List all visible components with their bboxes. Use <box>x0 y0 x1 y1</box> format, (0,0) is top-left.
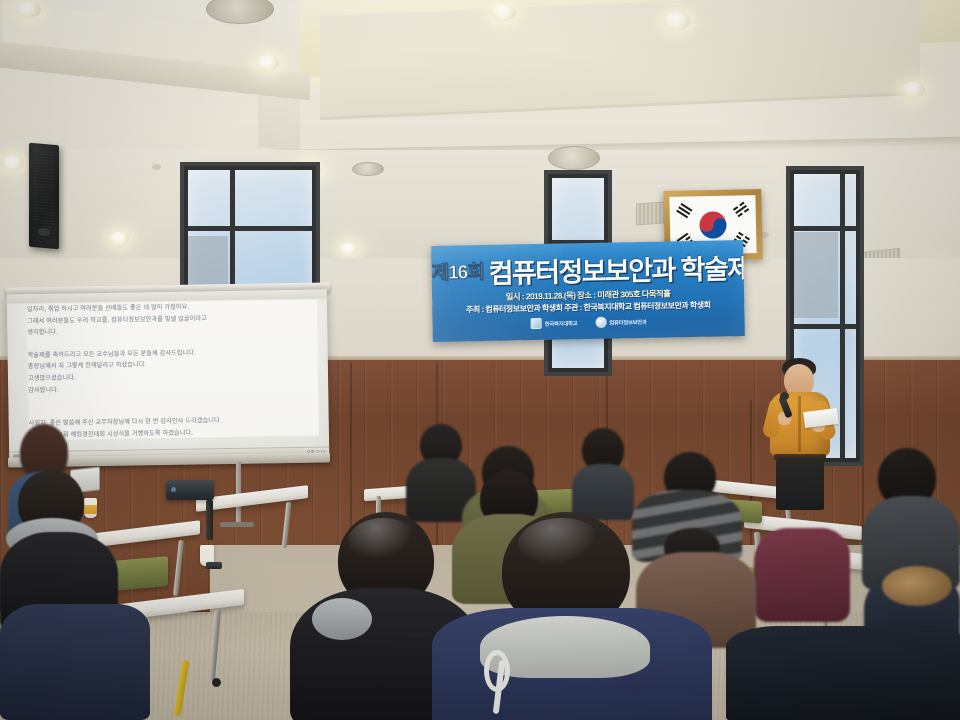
ceiling-tray-center <box>320 0 920 120</box>
university-logo: 한국복지대학교 <box>531 317 578 329</box>
attendee-right-foreground <box>726 616 960 720</box>
microphone-head-icon <box>780 392 789 400</box>
university-logo-icon <box>531 318 542 329</box>
projector-lens-icon <box>171 487 176 492</box>
cup-sleeve <box>200 552 214 561</box>
air-vent-icon <box>352 162 384 176</box>
department-logo-label: 컴퓨터정보보안과 <box>609 317 646 326</box>
outside-building <box>794 232 838 318</box>
university-logo-label: 한국복지대학교 <box>545 319 578 328</box>
banner-logo-row: 한국복지대학교 컴퓨터정보보안과 <box>433 314 745 331</box>
banner-title-row: 제16회컴퓨터정보보안과 학술제 <box>431 247 744 292</box>
presenter-pants <box>776 458 824 510</box>
desk-caster <box>212 678 221 687</box>
sprinkler-icon <box>152 164 161 170</box>
attendee-left-foreground <box>0 588 150 720</box>
event-banner: 제16회컴퓨터정보보안과 학술제 일시 : 2019.11.28.(목) 장소 … <box>431 240 745 342</box>
hair-highlight <box>518 518 604 570</box>
trigram-geon-icon <box>676 203 693 219</box>
trigram-gam-icon <box>733 202 750 218</box>
ceiling-light-icon <box>664 12 690 30</box>
hood-lining <box>312 598 372 640</box>
attendee-center-navy-hoodie <box>432 512 712 720</box>
window-mullion <box>794 226 856 231</box>
presenter <box>758 358 842 510</box>
screen-stand-foot <box>220 522 254 527</box>
ceiling-light-icon <box>902 82 925 98</box>
hoodie-drawstring-loop <box>484 650 510 692</box>
fur-hood-trim <box>882 566 952 606</box>
banner-ordinal: 제16회 <box>431 257 484 285</box>
ceiling-light-icon <box>16 2 41 18</box>
taeguk-symbol-icon <box>699 211 727 239</box>
ceiling-light-icon <box>2 156 24 171</box>
attendee-right-burgundy <box>754 518 850 622</box>
banner-title: 컴퓨터정보보안과 학술제 <box>488 247 745 291</box>
desk-leg <box>206 500 213 540</box>
torso <box>0 604 150 720</box>
outside-building <box>188 236 228 290</box>
department-logo: 컴퓨터정보보안과 <box>595 316 646 328</box>
phone[interactable] <box>206 562 222 569</box>
hair-highlight <box>348 518 418 564</box>
ceiling-light-icon <box>340 243 358 255</box>
presenter-shirt-placket <box>798 396 801 452</box>
window-mullion <box>188 226 312 231</box>
ceiling-light-icon <box>492 4 516 21</box>
torso <box>754 528 850 622</box>
air-vent-icon <box>548 146 600 170</box>
attendee-far-right <box>572 428 634 518</box>
slide-document: 일자리, 취업 하시고 여러분들 선배들도 좋은 데 많이 가잖아요.그래서 여… <box>27 300 319 441</box>
department-logo-icon <box>595 317 606 328</box>
torso <box>726 626 960 720</box>
desk-projector <box>166 480 214 500</box>
seminar-hall-photo: 제16회컴퓨터정보보안과 학술제 일시 : 2019.11.28.(목) 장소 … <box>0 0 960 720</box>
window-mullion <box>794 324 856 329</box>
wall-speaker <box>29 143 59 250</box>
ceiling-light-icon <box>257 55 279 70</box>
ceiling-light-icon <box>110 232 129 245</box>
